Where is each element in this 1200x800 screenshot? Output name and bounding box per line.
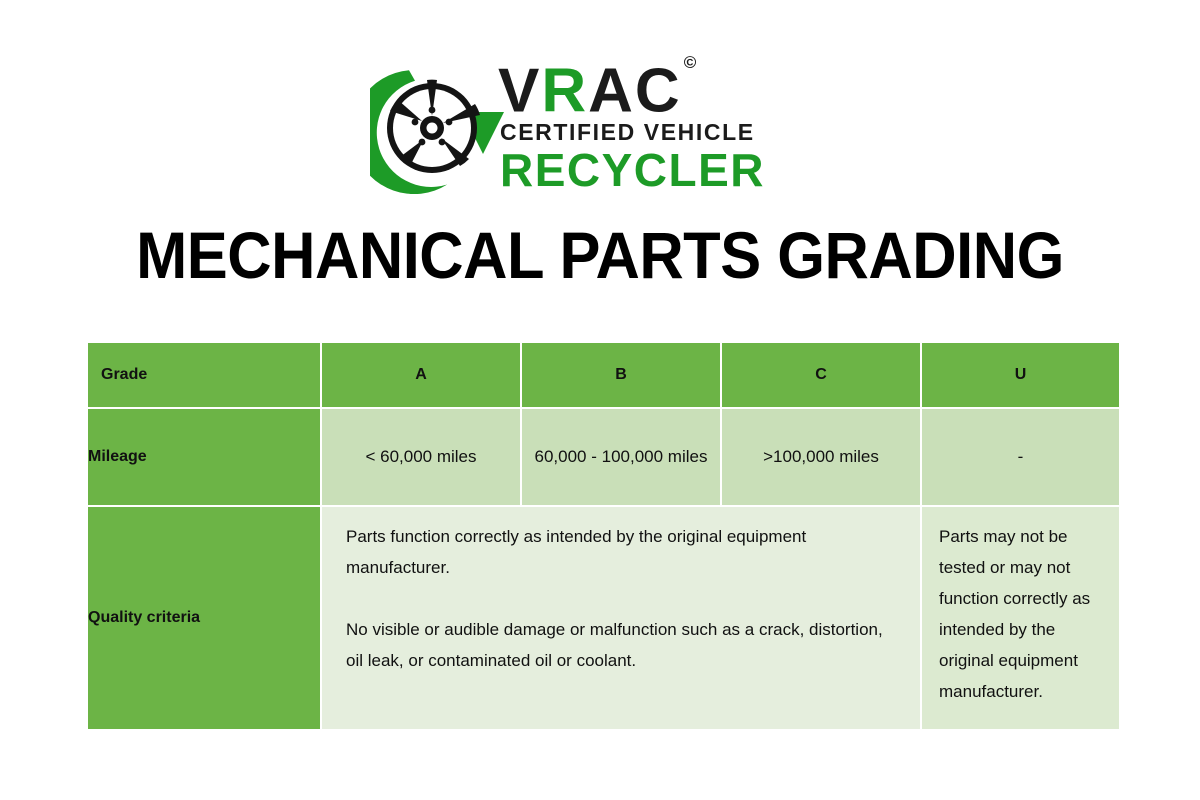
logo-tagline: CERTIFIED VEHICLE xyxy=(500,120,755,144)
quality-criteria-abc-paragraph-1: Parts function correctly as intended by … xyxy=(346,521,898,583)
row-label-quality-criteria: Quality criteria xyxy=(88,507,320,729)
mileage-grade-u: - xyxy=(922,409,1119,505)
vrac-logo: VRAC© CERTIFIED VEHICLE RECYCLER xyxy=(0,52,1200,202)
recycling-wheel-icon xyxy=(370,54,510,194)
quality-criteria-u-paragraph-1: Parts may not be tested or may not funct… xyxy=(939,521,1105,707)
quality-criteria-abc: Parts function correctly as intended by … xyxy=(322,507,920,729)
logo-brand-v: V xyxy=(498,57,541,126)
logo-inner: VRAC© CERTIFIED VEHICLE RECYCLER xyxy=(370,52,830,202)
page-title: MECHANICAL PARTS GRADING xyxy=(42,216,1158,294)
mechanical-parts-grading-table: Grade A B C U Mileage < 60,000 miles 60,… xyxy=(86,341,1121,731)
table-header-u: U xyxy=(922,343,1119,407)
logo-brand-recycler: RECYCLER xyxy=(500,146,765,194)
table-header-a: A xyxy=(322,343,520,407)
table-header-c: C xyxy=(722,343,920,407)
table-header-row: Grade A B C U xyxy=(88,343,1119,407)
mileage-grade-b: 60,000 - 100,000 miles xyxy=(522,409,720,505)
logo-wordmark: VRAC© CERTIFIED VEHICLE RECYCLER xyxy=(498,52,828,197)
quality-criteria-abc-paragraph-2: No visible or audible damage or malfunct… xyxy=(346,614,898,676)
copyright-icon: © xyxy=(684,53,697,72)
logo-brand-vrac: VRAC© xyxy=(498,54,694,123)
table-header-grade: Grade xyxy=(88,343,320,407)
row-label-mileage: Mileage xyxy=(88,409,320,505)
table-row-quality-criteria: Quality criteria Parts function correctl… xyxy=(88,507,1119,729)
grading-page: VRAC© CERTIFIED VEHICLE RECYCLER MECHANI… xyxy=(0,0,1200,800)
table-row-mileage: Mileage < 60,000 miles 60,000 - 100,000 … xyxy=(88,409,1119,505)
mileage-grade-a: < 60,000 miles xyxy=(322,409,520,505)
logo-brand-r: R xyxy=(541,57,588,126)
logo-brand-ac: AC xyxy=(588,57,682,126)
quality-criteria-u: Parts may not be tested or may not funct… xyxy=(922,507,1119,729)
table-header-b: B xyxy=(522,343,720,407)
mileage-grade-c: >100,000 miles xyxy=(722,409,920,505)
